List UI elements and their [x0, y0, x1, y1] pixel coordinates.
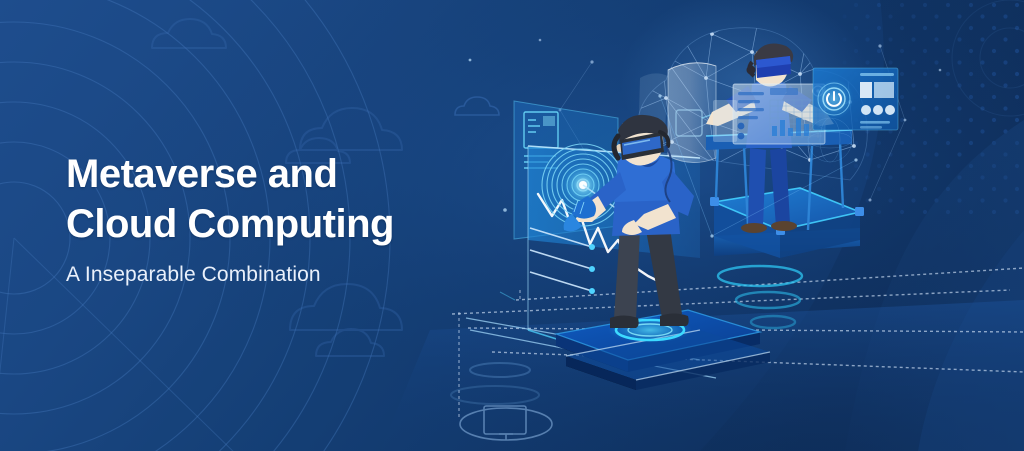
left-figure-leg — [646, 228, 682, 318]
right-figure-leg — [770, 148, 790, 226]
right-figure-head — [756, 46, 788, 86]
cyan-glow-ring — [616, 320, 684, 340]
left-figure-leg — [614, 228, 640, 320]
left-figure-head — [622, 116, 663, 165]
cloud-icon — [152, 19, 226, 48]
text-block: Metaverse and Cloud Computing A Insepara… — [66, 150, 486, 287]
dot-grid-pattern — [830, 0, 1024, 220]
page-subtitle: A Inseparable Combination — [66, 263, 486, 287]
right-figure-arm — [782, 92, 834, 126]
raised-glow-platform — [714, 188, 860, 230]
platform-glow-rings — [718, 266, 802, 328]
cloud-icon — [455, 97, 499, 115]
left-figure-arm — [584, 172, 626, 214]
cloud-icon — [300, 108, 402, 150]
right-figure-torso — [746, 80, 792, 148]
cloud-icon — [290, 284, 402, 330]
ripple-rings — [451, 363, 539, 404]
right-figure-arm — [706, 92, 756, 126]
cloud-icon — [316, 329, 384, 356]
banner-root: Metaverse and Cloud Computing A Insepara… — [0, 0, 1024, 451]
concentric-target — [542, 144, 624, 226]
left-figure-torso — [612, 153, 680, 236]
holo-desk — [706, 130, 852, 150]
power-button-icon — [814, 79, 854, 119]
status-dots — [861, 105, 895, 115]
monitor-icon — [460, 406, 552, 440]
connector-lines — [530, 228, 595, 294]
gear-icon — [813, 86, 823, 96]
zigzag-line-chart — [538, 194, 672, 288]
headline-line-1: Metaverse and — [66, 152, 337, 196]
vr-glove — [564, 196, 596, 231]
vr-headset — [614, 132, 668, 160]
data-grid — [770, 100, 822, 138]
vr-headset — [747, 56, 792, 78]
document-icon — [524, 112, 558, 168]
right-figure-leg — [748, 148, 766, 226]
left-figure-arm — [662, 170, 694, 216]
headline-line-2: Cloud Computing — [66, 200, 486, 250]
dotted-perspective-line — [452, 268, 1024, 372]
page-title: Metaverse and Cloud Computing — [66, 150, 486, 249]
glow-platform — [556, 310, 760, 360]
